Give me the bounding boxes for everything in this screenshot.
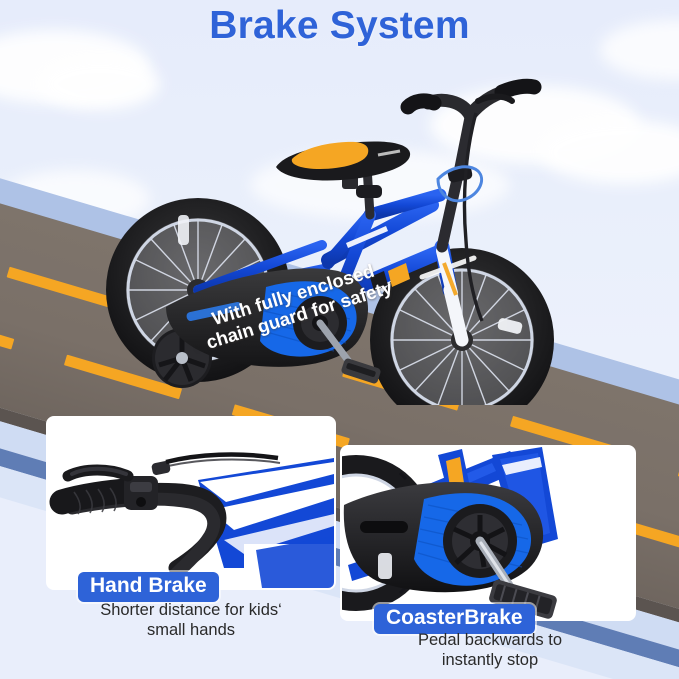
product-infographic: Brake System With fully enclosed chain g…	[0, 0, 679, 679]
hand-brake-caption-line2: small hands	[28, 620, 354, 640]
coaster-brake-caption-line2: instantly stop	[340, 650, 640, 670]
bicycle-illustration	[70, 55, 600, 405]
page-title: Brake System	[0, 4, 679, 48]
hand-brake-photo-panel	[48, 418, 334, 588]
coaster-brake-caption-line1: Pedal backwards to	[340, 630, 640, 650]
coaster-brake-caption: Pedal backwards to instantly stop	[340, 630, 640, 670]
hand-brake-caption: Shorter distance for kids‘ small hands	[28, 600, 354, 640]
coaster-brake-photo-panel	[342, 447, 634, 619]
road-lane-dash	[0, 305, 14, 350]
hand-brake-caption-line1: Shorter distance for kids‘	[28, 600, 354, 620]
hand-brake-badge: Hand Brake	[78, 572, 219, 602]
